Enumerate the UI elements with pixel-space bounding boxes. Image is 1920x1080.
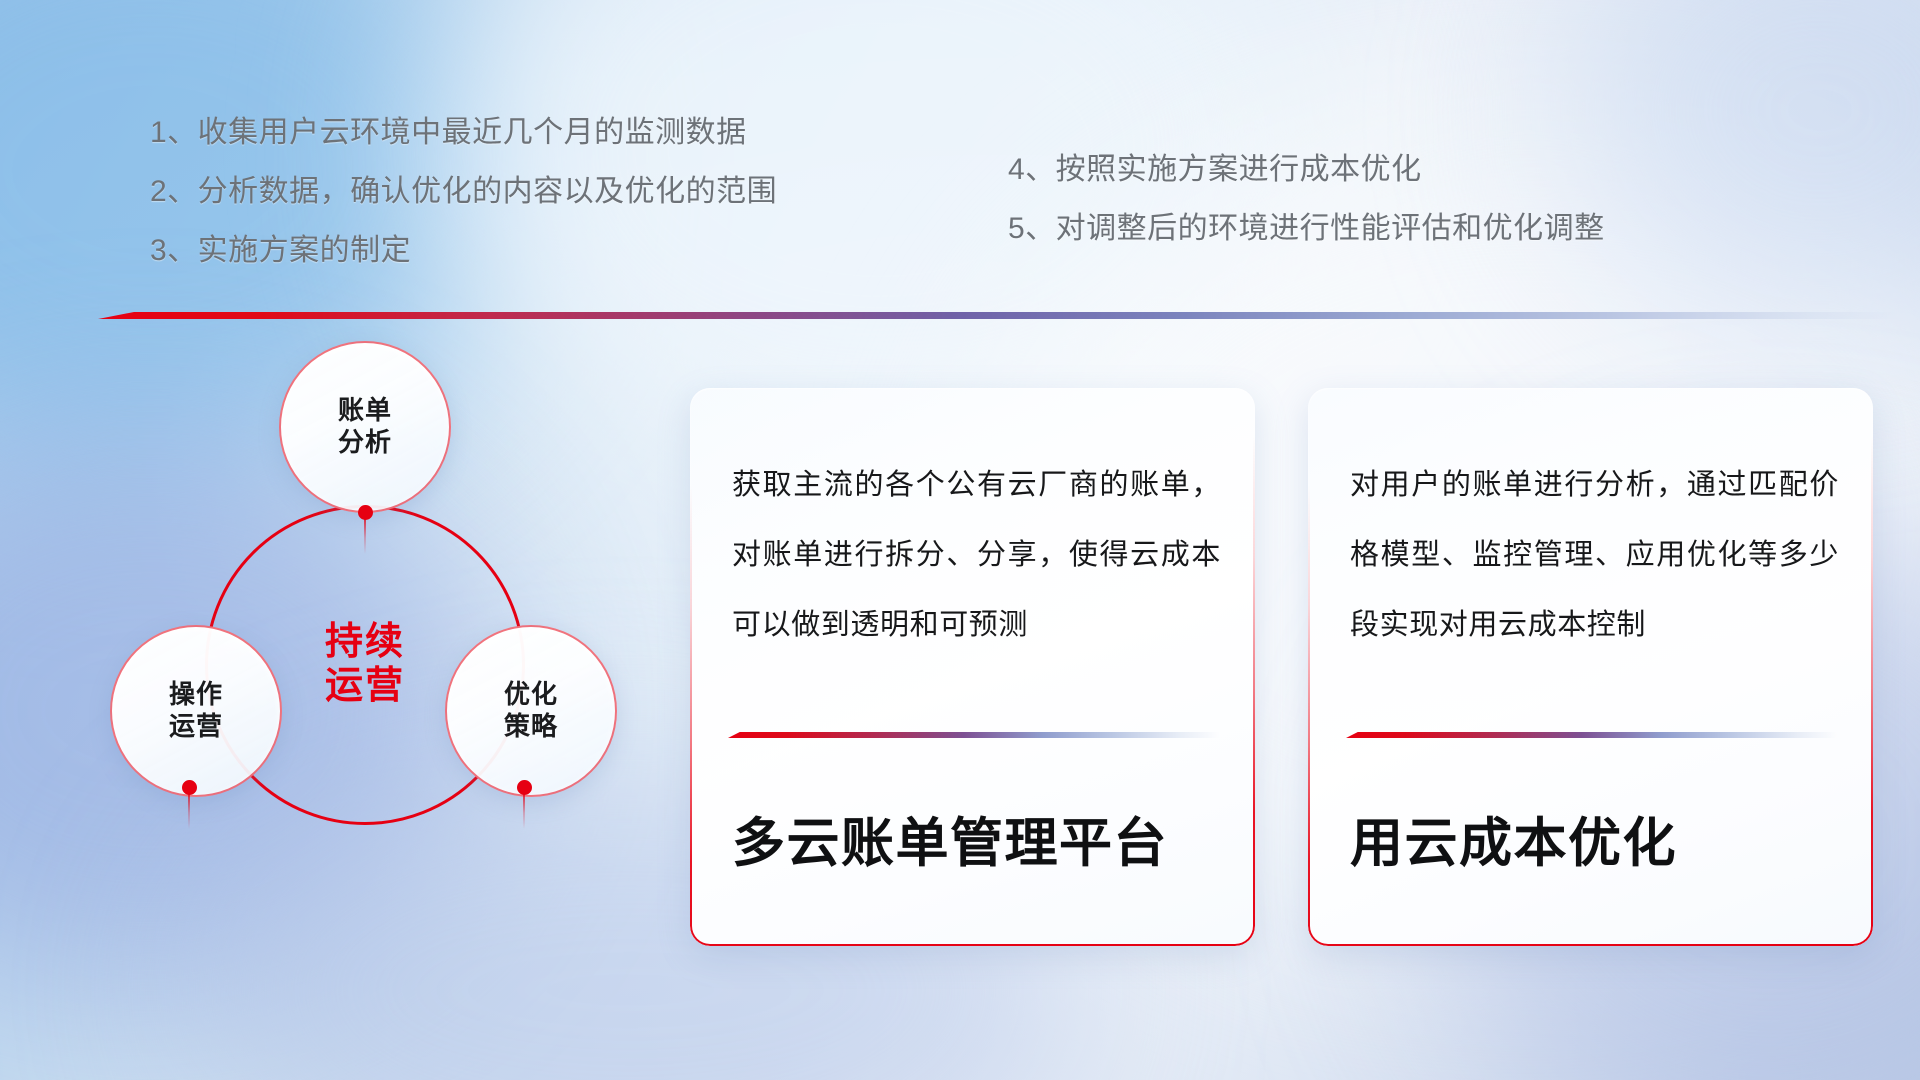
- cycle-node-line-2: 策略: [504, 711, 558, 743]
- cycle-node-line-1: 账单: [338, 395, 392, 427]
- slide-canvas: 1、收集用户云环境中最近几个月的监测数据 2、分析数据，确认优化的内容以及优化的…: [0, 0, 1920, 1080]
- section-divider: [98, 312, 1898, 319]
- step-item: 5、对调整后的环境进行性能评估和优化调整: [1008, 214, 1605, 244]
- cycle-node-line-2: 运营: [169, 711, 223, 743]
- feature-card-body: 对用户的账单进行分析，通过匹配价格模型、监控管理、应用优化等多少段实现对用云成本…: [1350, 450, 1839, 661]
- cycle-node-dot: [358, 505, 373, 520]
- feature-card-cost-optimization[interactable]: 对用户的账单进行分析，通过匹配价格模型、监控管理、应用优化等多少段实现对用云成本…: [1308, 388, 1873, 946]
- cycle-node-tail: [188, 793, 190, 829]
- cycle-node-line-1: 优化: [504, 679, 558, 711]
- cycle-node-tail: [364, 518, 366, 554]
- feature-card-title: 用云成本优化: [1350, 812, 1843, 876]
- feature-card-divider: [728, 732, 1219, 738]
- cycle-center-line-1: 持续: [325, 621, 405, 665]
- cycle-node-operations[interactable]: 操作 运营: [110, 625, 282, 797]
- feature-card-divider: [1346, 732, 1837, 738]
- feature-card-body: 获取主流的各个公有云厂商的账单，对账单进行拆分、分享，使得云成本可以做到透明和可…: [732, 450, 1221, 661]
- feature-card-title: 多云账单管理平台: [732, 812, 1225, 876]
- steps-list-left: 1、收集用户云环境中最近几个月的监测数据 2、分析数据，确认优化的内容以及优化的…: [150, 118, 777, 266]
- cycle-node-dot: [517, 780, 532, 795]
- cycle-node-optimization-strategy[interactable]: 优化 策略: [445, 625, 617, 797]
- cycle-node-bill-analysis[interactable]: 账单 分析: [279, 341, 451, 513]
- cycle-node-tail: [523, 793, 525, 829]
- step-item: 4、按照实施方案进行成本优化: [1008, 155, 1605, 185]
- steps-list-right: 4、按照实施方案进行成本优化 5、对调整后的环境进行性能评估和优化调整: [1008, 155, 1605, 244]
- cycle-node-line-2: 分析: [338, 427, 392, 459]
- step-item: 2、分析数据，确认优化的内容以及优化的范围: [150, 177, 777, 207]
- section-divider-bar: [98, 312, 1898, 319]
- cycle-node-line-1: 操作: [169, 679, 223, 711]
- step-item: 1、收集用户云环境中最近几个月的监测数据: [150, 118, 777, 148]
- feature-card-multicloud-billing[interactable]: 获取主流的各个公有云厂商的账单，对账单进行拆分、分享，使得云成本可以做到透明和可…: [690, 388, 1255, 946]
- cycle-diagram: 持续 运营 账单 分析 操作 运营 优化 策略: [100, 350, 660, 960]
- background-blob: [1560, 0, 1920, 340]
- step-item: 3、实施方案的制定: [150, 236, 777, 266]
- cycle-center-line-2: 运营: [325, 665, 405, 709]
- cycle-node-dot: [182, 780, 197, 795]
